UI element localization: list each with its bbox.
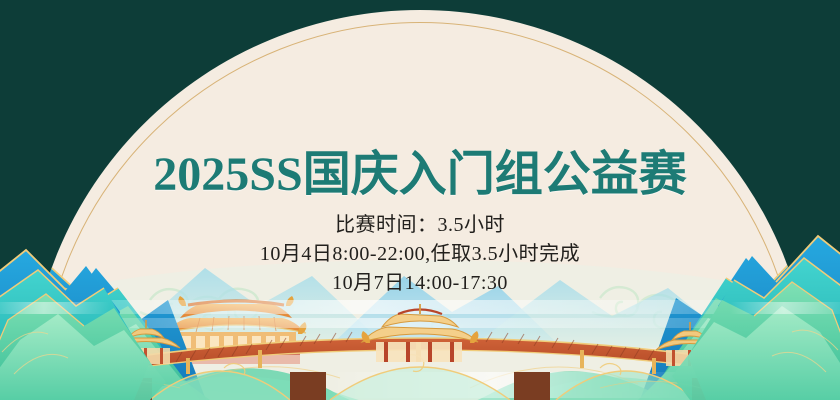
- page-title: 2025SS国庆入门组公益赛: [0, 0, 840, 200]
- subtitle-window-oct7: 10月7日14:00-17:30: [0, 269, 840, 298]
- poster-text-block: 2025SS国庆入门组公益赛 比赛时间：3.5小时 10月4日8:00-22:0…: [0, 0, 840, 298]
- outer-mist-right: [730, 302, 840, 314]
- subtitle-window-oct4: 10月4日8:00-22:00,任取3.5小时完成: [0, 240, 840, 269]
- outer-mist-left: [0, 302, 110, 314]
- subtitle-duration: 比赛时间：3.5小时: [0, 211, 840, 240]
- poster-canvas: 2025SS国庆入门组公益赛 比赛时间：3.5小时 10月4日8:00-22:0…: [0, 0, 840, 400]
